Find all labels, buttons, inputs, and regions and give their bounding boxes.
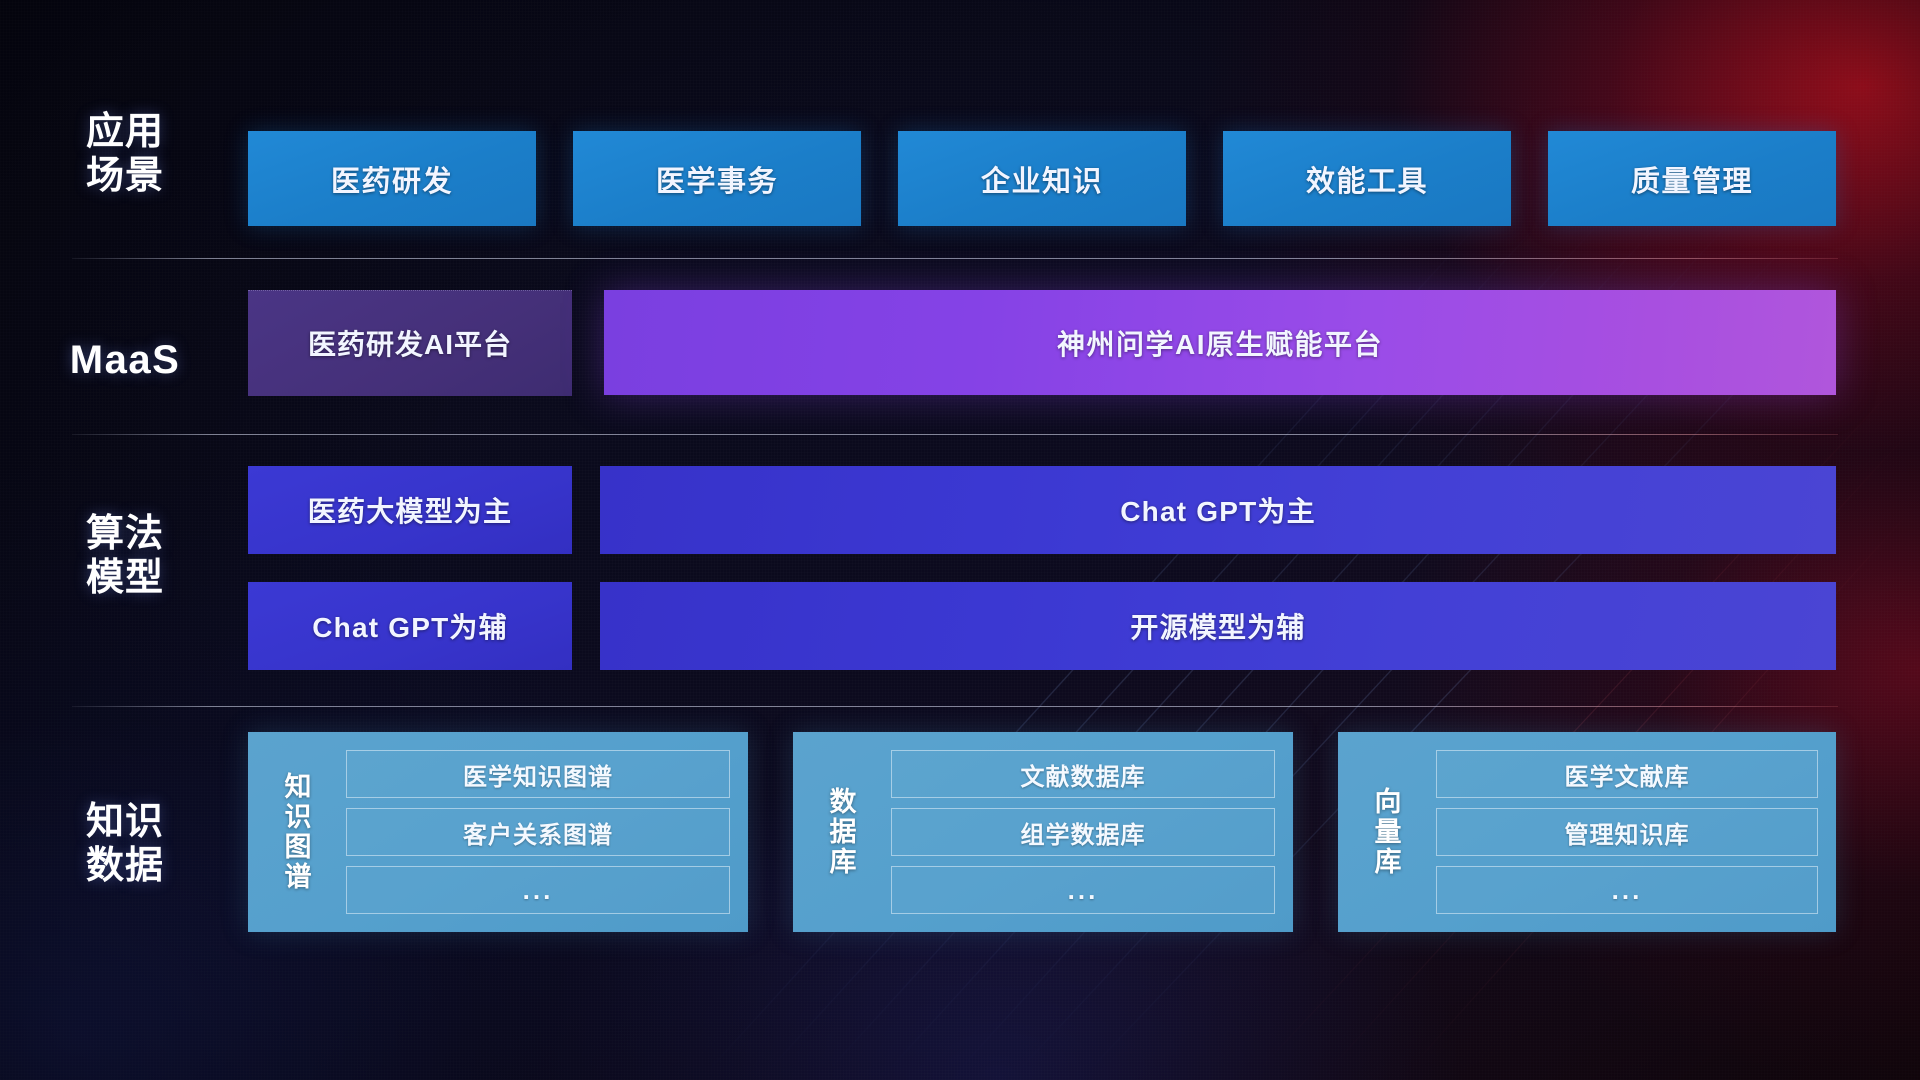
- algo-row2-right-box[interactable]: 开源模型为辅: [600, 582, 1836, 670]
- divider-after-application: [72, 258, 1838, 259]
- knowledge-panel-graph-items: 医学知识图谱 客户关系图谱 ...: [332, 750, 748, 914]
- app-box-3[interactable]: 企业知识: [898, 131, 1186, 226]
- algorithm-row-2: Chat GPT为辅 开源模型为辅: [0, 582, 1920, 670]
- algo-row1-right-box[interactable]: Chat GPT为主: [600, 466, 1836, 554]
- app-box-2-label: 医学事务: [656, 158, 778, 200]
- kd-graph-item-3[interactable]: ...: [346, 866, 730, 914]
- kd-db-char-2: 据: [830, 817, 857, 847]
- knowledge-row: 知 识 图 谱 医学知识图谱 客户关系图谱 ... 数 据 库: [0, 732, 1920, 932]
- maas-left-label: 医药研发AI平台: [308, 323, 512, 363]
- algorithm-row-1: 医药大模型为主 Chat GPT为主: [0, 466, 1920, 554]
- divider-after-algorithm: [72, 706, 1838, 707]
- app-box-1[interactable]: 医药研发: [248, 131, 536, 226]
- kd-vec-char-2: 量: [1375, 817, 1402, 847]
- slide-canvas: 应用 场景 医药研发 医学事务 企业知识 效能工具 质量管理 MaaS: [0, 0, 1920, 1080]
- kd-db-item-3[interactable]: ...: [891, 866, 1275, 914]
- kd-db-char-3: 库: [830, 847, 857, 877]
- app-box-4[interactable]: 效能工具: [1223, 131, 1511, 226]
- kd-vec-item-3[interactable]: ...: [1436, 866, 1818, 914]
- app-box-2[interactable]: 医学事务: [573, 131, 861, 226]
- knowledge-panel-graph[interactable]: 知 识 图 谱 医学知识图谱 客户关系图谱 ...: [248, 732, 748, 932]
- algo-row2-left-box[interactable]: Chat GPT为辅: [248, 582, 572, 670]
- application-row: 医药研发 医学事务 企业知识 效能工具 质量管理: [0, 131, 1920, 226]
- kd-vec-item-2[interactable]: 管理知识库: [1436, 808, 1818, 856]
- maas-left-box[interactable]: 医药研发AI平台: [248, 290, 572, 396]
- divider-after-maas: [72, 434, 1838, 435]
- knowledge-panel-database-vertical-label: 数 据 库: [809, 787, 877, 878]
- algo-row1-left-box[interactable]: 医药大模型为主: [248, 466, 572, 554]
- knowledge-panel-database-items: 文献数据库 组学数据库 ...: [877, 750, 1293, 914]
- kd-db-item-1[interactable]: 文献数据库: [891, 750, 1275, 798]
- maas-right-box[interactable]: 神州问学AI原生赋能平台: [604, 290, 1836, 395]
- maas-right-label: 神州问学AI原生赋能平台: [1057, 323, 1383, 363]
- app-box-5-label: 质量管理: [1631, 158, 1753, 200]
- knowledge-panel-graph-vertical-label: 知 识 图 谱: [264, 772, 332, 893]
- app-box-5[interactable]: 质量管理: [1548, 131, 1836, 226]
- knowledge-panel-vector-items: 医学文献库 管理知识库 ...: [1422, 750, 1836, 914]
- kd-db-item-2[interactable]: 组学数据库: [891, 808, 1275, 856]
- kd-vec-char-1: 向: [1375, 787, 1402, 817]
- kd-vec-item-1[interactable]: 医学文献库: [1436, 750, 1818, 798]
- kd-vec-char-3: 库: [1375, 847, 1402, 877]
- app-box-3-label: 企业知识: [981, 158, 1103, 200]
- kd-graph-char-1: 知: [285, 772, 312, 802]
- algo-row1-right-label: Chat GPT为主: [1120, 490, 1316, 530]
- kd-db-char-1: 数: [830, 787, 857, 817]
- kd-graph-char-3: 图: [285, 832, 312, 862]
- knowledge-panel-vector-vertical-label: 向 量 库: [1354, 787, 1422, 878]
- app-box-1-label: 医药研发: [331, 158, 453, 200]
- kd-graph-char-4: 谱: [285, 862, 312, 892]
- app-box-4-label: 效能工具: [1306, 158, 1428, 200]
- algo-row1-left-label: 医药大模型为主: [308, 490, 512, 530]
- maas-row: 医药研发AI平台 神州问学AI原生赋能平台: [0, 290, 1920, 395]
- knowledge-panel-database[interactable]: 数 据 库 文献数据库 组学数据库 ...: [793, 732, 1293, 932]
- knowledge-panel-vector[interactable]: 向 量 库 医学文献库 管理知识库 ...: [1338, 732, 1836, 932]
- kd-graph-char-2: 识: [285, 802, 312, 832]
- kd-graph-item-1[interactable]: 医学知识图谱: [346, 750, 730, 798]
- algo-row2-left-label: Chat GPT为辅: [312, 606, 508, 646]
- algo-row2-right-label: 开源模型为辅: [1130, 606, 1305, 646]
- kd-graph-item-2[interactable]: 客户关系图谱: [346, 808, 730, 856]
